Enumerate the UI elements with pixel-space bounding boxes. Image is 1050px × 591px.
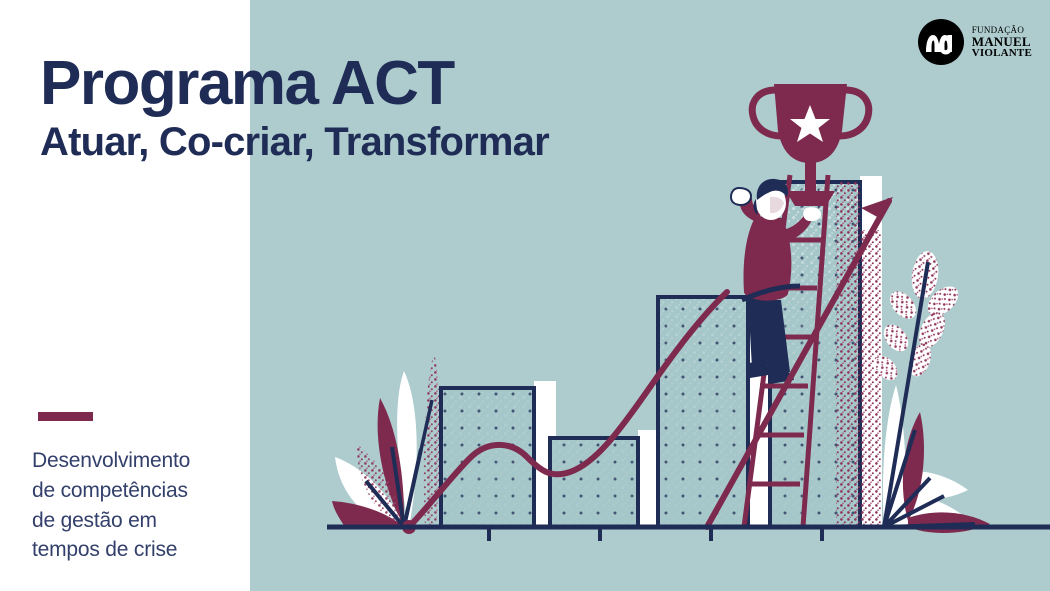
bar-3 (658, 297, 748, 527)
foliage-right-icon (870, 249, 990, 533)
bar-1 (441, 388, 534, 527)
foliage-left-icon (332, 352, 440, 527)
page-title: Programa ACT (40, 52, 549, 115)
body-line-2: de competências (32, 476, 247, 506)
headline-block: Programa ACT Atuar, Co-criar, Transforma… (40, 52, 549, 164)
chart-baseline (327, 527, 1050, 541)
body-line-3: de gestão em (32, 506, 247, 536)
speckle-band (836, 182, 862, 527)
bar-2 (550, 438, 638, 527)
logo-line-violante: VIOLANTE (972, 48, 1032, 59)
accent-rule-divider (38, 412, 93, 421)
mv-monogram-icon (917, 18, 965, 66)
logo-line-manuel: MANUEL (972, 35, 1032, 48)
logo-wordmark: FUNDAÇÃO MANUEL VIOLANTE (972, 26, 1032, 59)
foundation-logo: FUNDAÇÃO MANUEL VIOLANTE (917, 18, 1032, 66)
slide-root: Programa ACT Atuar, Co-criar, Transforma… (0, 0, 1050, 591)
body-description: Desenvolvimento de competências de gestã… (32, 446, 247, 565)
body-line-4: tempos de crise (32, 535, 247, 565)
body-line-1: Desenvolvimento (32, 446, 247, 476)
speckle-band-outer (860, 230, 882, 527)
page-subtitle: Atuar, Co-criar, Transformar (40, 121, 549, 164)
